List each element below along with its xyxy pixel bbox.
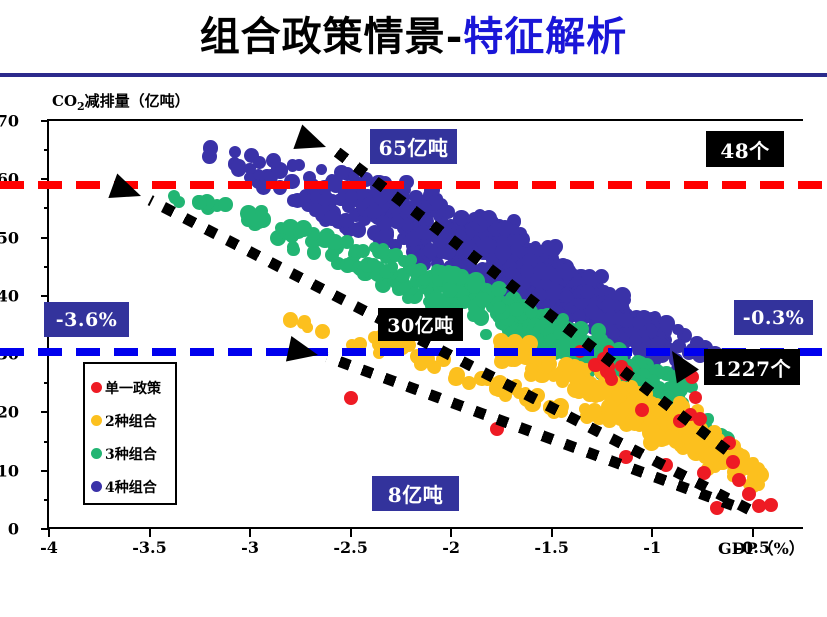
page-title-separator: - [446,13,464,60]
x-axis-label: GDP（%） [718,535,805,559]
scatter-point [287,244,300,257]
legend-label-four: 4种组合 [105,477,157,497]
page-title: 组合政策情景-特征解析 [0,8,827,66]
chart-legend: 单一政策 2种组合 3种组合 4种组合 [83,362,177,505]
x-tick-mark [551,529,553,537]
scatter-point [229,146,241,158]
x-tick-mark [450,529,452,537]
scatter-point [315,324,330,339]
annotation-count-upper: 48个 [706,131,784,167]
legend-label-two: 2种组合 [105,411,157,431]
scatter-point [742,487,756,501]
slide-root: 组合政策情景-特征解析 CO2减排量（亿吨） 010203040506070-4… [0,0,827,617]
scatter-point [672,324,684,336]
legend-dot-single [91,382,102,393]
x-tick-label: -2 [426,538,476,557]
y-tick-label: 70 [0,112,19,131]
scatter-point [253,156,266,169]
x-tick-mark [48,529,50,537]
legend-dot-two [91,415,102,426]
annotation-min-reduction: 8亿吨 [372,476,459,511]
scatter-point [591,323,606,338]
title-divider [0,73,827,77]
y-tick-label: 0 [0,520,19,539]
legend-item-two: 2种组合 [91,404,175,437]
annotation-count-lower: 1227个 [704,349,800,385]
scatter-point [283,312,298,327]
y-axis-label: CO2减排量（亿吨） [52,90,190,113]
scatter-point [295,220,312,237]
y-tick-label: 40 [0,286,19,305]
scatter-point [495,244,512,261]
y-tick-mark [41,295,49,297]
scatter-point [367,258,380,271]
scatter-point [218,197,233,212]
scatter-point [580,378,597,395]
scatter-point [203,140,219,156]
x-tick-label: -4 [24,538,74,557]
annotation-gdp-loss-min: -0.3% [734,300,813,335]
scatter-point [266,153,281,168]
scatter-point [293,159,305,171]
x-tick-label: -1 [627,538,677,557]
scatter-point [587,403,602,418]
scatter-point [480,329,491,340]
x-tick-label: -3.5 [125,538,175,557]
scatter-point [732,473,746,487]
x-tick-mark [249,529,251,537]
y-tick-label: 50 [0,228,19,247]
scatter-point [255,205,268,218]
y-tick-mark [41,470,49,472]
scatter-point [493,301,506,314]
legend-item-four: 4种组合 [91,470,175,503]
annotation-max-reduction: 65亿吨 [370,129,457,164]
scatter-point [467,272,485,290]
scatter-point [334,165,349,180]
annotation-gdp-loss-max: -3.6% [44,302,129,337]
legend-label-three: 3种组合 [105,444,157,464]
scatter-point [541,361,552,372]
scatter-point [302,322,313,333]
legend-label-single: 单一政策 [105,378,161,398]
scatter-point [632,316,645,329]
scatter-point [764,498,778,512]
scatter-point [478,237,495,254]
scatter-point [356,244,370,258]
scatter-point [585,304,599,318]
scatter-point [316,164,327,175]
y-tick-label: 20 [0,403,19,422]
y-tick-mark [41,237,49,239]
y-tick-mark [41,411,49,413]
scatter-point [613,312,625,324]
scatter-point [344,391,358,405]
scatter-point [345,190,358,203]
y-tick-mark [41,120,49,122]
scatter-point [726,455,740,469]
scatter-point [240,205,257,222]
page-title-main: 组合政策情景 [200,13,446,60]
legend-dot-three [91,448,102,459]
annotation-mid-reduction: 30亿吨 [378,308,463,341]
scatter-point [747,457,758,468]
x-tick-mark [149,529,151,537]
scatter-point [366,204,381,219]
reference-line-blue [0,348,827,356]
scatter-point [689,391,702,404]
scatter-point [390,216,404,230]
x-tick-label: -2.5 [326,538,376,557]
legend-item-single: 单一政策 [91,371,175,404]
x-tick-label: -3 [225,538,275,557]
legend-item-three: 3种组合 [91,437,175,470]
x-tick-label: -1.5 [527,538,577,557]
y-tick-label: 10 [0,461,19,480]
scatter-point [418,274,430,286]
x-tick-mark [350,529,352,537]
scatter-point [449,367,465,383]
y-tick-mark [41,178,49,180]
scatter-point [520,264,534,278]
x-tick-mark [651,529,653,537]
scatter-point [442,266,458,282]
page-title-accent: 特征解析 [463,13,627,60]
scatter-point [497,220,513,236]
scatter-point [635,403,649,417]
legend-dot-four [91,481,102,492]
